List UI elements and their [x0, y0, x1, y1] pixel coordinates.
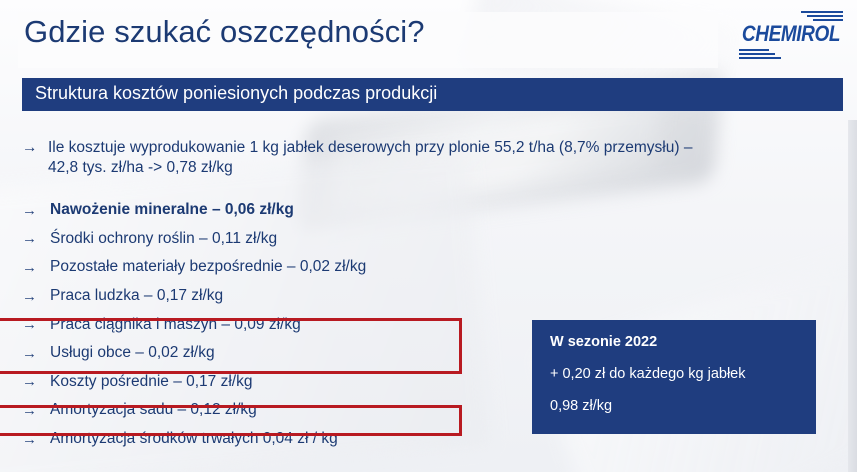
lead-line-1: Ile kosztuje wyprodukowanie 1 kg jabłek … — [48, 139, 692, 156]
cost-item-label: Środki ochrony roślin – 0,11 zł/kg — [50, 230, 277, 248]
cost-item: →Nawożenie mineralne – 0,06 zł/kg — [22, 196, 482, 225]
lead-line-2: 42,8 tys. zł/ha -> 0,78 zł/kg — [48, 158, 822, 178]
highlight-box-fertilizer-pesticides — [0, 318, 462, 374]
arrow-icon: → — [22, 230, 50, 247]
logo-lines-bottom-icon — [739, 49, 781, 62]
logo-wordmark: CHEMIROL — [737, 22, 845, 47]
cost-item: →Pozostałe materiały bezpośrednie – 0,02… — [22, 253, 482, 282]
page-title: Gdzie szukać oszczędności? — [24, 14, 425, 50]
presentation-slide: Gdzie szukać oszczędności? CHEMIROL Stru… — [0, 0, 857, 472]
cost-item-label: Koszty pośrednie – 0,17 zł/kg — [50, 373, 252, 391]
arrow-icon: → — [22, 259, 50, 276]
arrow-icon: → — [22, 138, 48, 158]
callout-title: W sezonie 2022 — [550, 334, 798, 350]
callout-line-2: + 0,20 zł do każdego kg jabłek — [550, 366, 798, 382]
cost-item-label: Nawożenie mineralne – 0,06 zł/kg — [50, 201, 294, 219]
lead-paragraph: →Ile kosztuje wyprodukowanie 1 kg jabłek… — [22, 138, 822, 178]
callout-line-3: 0,98 zł/kg — [550, 398, 798, 414]
cost-item: →Środki ochrony roślin – 0,11 zł/kg — [22, 225, 482, 254]
highlight-box-human-labour — [0, 405, 462, 436]
arrow-icon: → — [22, 373, 50, 390]
subtitle-text: Struktura kosztów poniesionych podczas p… — [35, 83, 437, 104]
arrow-icon: → — [22, 288, 50, 305]
subtitle-bar: Struktura kosztów poniesionych podczas p… — [22, 78, 843, 111]
arrow-icon: → — [22, 202, 50, 219]
cost-item-label: Praca ludzka – 0,17 zł/kg — [50, 287, 223, 305]
season-callout-box: W sezonie 2022 + 0,20 zł do każdego kg j… — [532, 320, 816, 434]
chemirol-logo: CHEMIROL — [737, 8, 845, 64]
cost-item: →Praca ludzka – 0,17 zł/kg — [22, 282, 482, 311]
slide-content: →Ile kosztuje wyprodukowanie 1 kg jabłek… — [0, 128, 857, 472]
cost-item-label: Pozostałe materiały bezpośrednie – 0,02 … — [50, 258, 366, 276]
